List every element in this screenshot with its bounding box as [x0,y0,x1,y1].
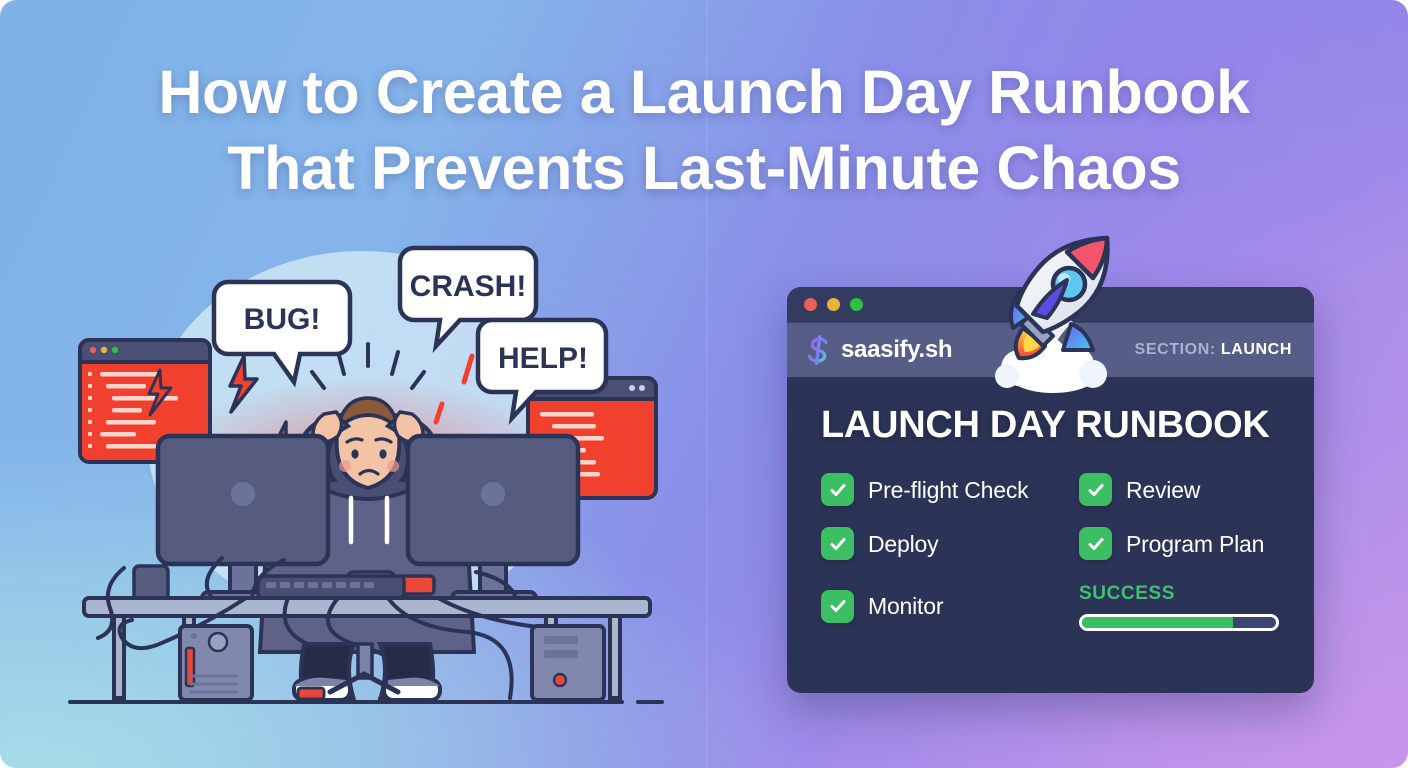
checklist-item-program-plan[interactable]: Program Plan [1079,527,1284,560]
brand-name: saasify.sh [841,336,952,364]
checkbox-checked-icon[interactable] [821,527,854,560]
page-title: How to Create a Launch Day Runbook That … [0,54,1408,206]
checklist-label: Pre-flight Check [868,477,1028,503]
minimize-dot[interactable] [827,298,840,311]
svg-text:BUG!: BUG! [244,303,321,336]
checklist-label: Monitor [868,593,943,619]
runbook-checklist: Pre-flight Check Review Deploy [821,473,1284,631]
browser-brandbar: saasify.sh SECTION: LAUNCH [787,323,1314,377]
brand[interactable]: saasify.sh [805,335,952,365]
checklist-item-preflight-check[interactable]: Pre-flight Check [821,473,1079,506]
checkbox-checked-icon[interactable] [1079,473,1112,506]
checkbox-checked-icon[interactable] [1079,527,1112,560]
section-value: LAUNCH [1221,341,1292,358]
section-indicator: SECTION: LAUNCH [1135,341,1292,359]
close-dot[interactable] [804,298,817,311]
checklist-label: Deploy [868,531,938,557]
runbook-browser-card: saasify.sh SECTION: LAUNCH LAUNCH DAY RU… [787,287,1314,693]
pc-tower-left [180,626,252,700]
svg-text:HELP!: HELP! [498,342,588,375]
saasify-s-logo-icon [805,335,832,365]
progress-bar [1079,614,1279,631]
stressed-developer-illustration: BUG! CRASH! HELP! [62,236,672,706]
checkbox-checked-icon[interactable] [821,473,854,506]
section-key: SECTION: [1135,341,1216,358]
maximize-dot[interactable] [850,298,863,311]
title-line-1: How to Create a Launch Day Runbook [158,58,1249,126]
runbook-heading: LAUNCH DAY RUNBOOK [821,403,1284,447]
svg-text:CRASH!: CRASH! [410,270,527,303]
pc-tower-right [532,626,604,700]
checklist-item-monitor[interactable]: Monitor [821,581,1079,631]
hero-banner: How to Create a Launch Day Runbook That … [0,0,1408,768]
runbook-body: LAUNCH DAY RUNBOOK Pre-flight Check Revi… [787,377,1314,631]
status-badge: SUCCESS [1079,583,1284,605]
checkbox-checked-icon[interactable] [821,590,854,623]
progress-bar-fill [1082,617,1233,628]
launch-status: SUCCESS [1079,581,1284,631]
checklist-item-review[interactable]: Review [1079,473,1284,506]
checklist-item-deploy[interactable]: Deploy [821,527,1079,560]
checklist-label: Program Plan [1126,531,1264,557]
browser-titlebar [787,287,1314,323]
title-line-2: That Prevents Last-Minute Chaos [0,130,1408,206]
checklist-label: Review [1126,477,1200,503]
